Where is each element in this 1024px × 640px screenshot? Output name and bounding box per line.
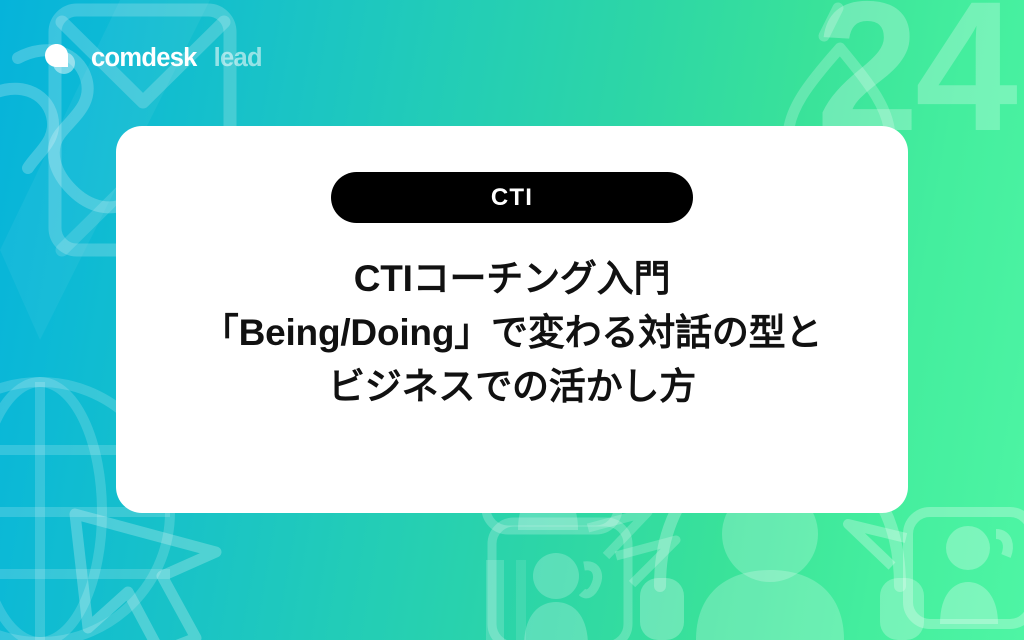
- page-title: CTIコーチング入門 「Being/Doing」で変わる対話の型と ビジネスでの…: [132, 252, 892, 414]
- brand-logo[interactable]: comdesk lead: [42, 41, 262, 77]
- person-in-speech-bubble-icon: [492, 522, 676, 640]
- category-badge-label: CTI: [491, 184, 533, 212]
- light-band: [486, 560, 504, 640]
- page-title-line-3: ビジネスでの活かし方: [132, 360, 892, 414]
- light-band: [516, 560, 526, 640]
- banner-canvas: 24: [0, 0, 1024, 640]
- page-title-line-2: 「Being/Doing」で変わる対話の型と: [132, 306, 892, 360]
- category-badge: CTI: [331, 172, 693, 223]
- content-card: CTI CTIコーチング入門 「Being/Doing」で変わる対話の型と ビジ…: [116, 126, 908, 513]
- cursor-arrow-icon: [75, 514, 216, 640]
- person-in-speech-bubble-icon: [848, 512, 1024, 624]
- comdesk-chat-mark-icon: [42, 41, 78, 77]
- page-title-line-1: CTIコーチング入門: [132, 252, 892, 306]
- logo-text-secondary: lead: [214, 46, 262, 72]
- speech-bubble-icon: [588, 512, 648, 556]
- logo-text-primary: comdesk: [91, 46, 197, 72]
